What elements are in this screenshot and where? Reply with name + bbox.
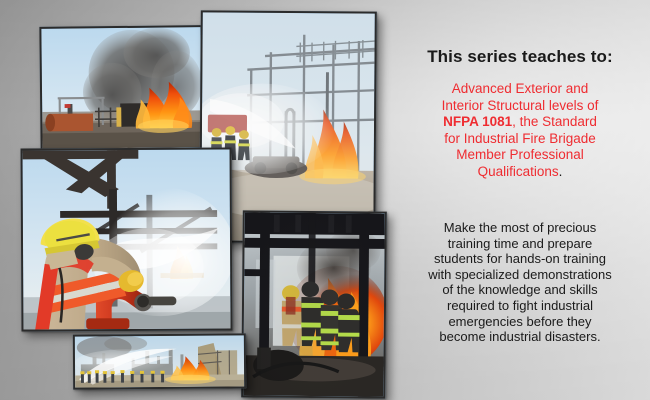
firefighter-monitor-nozzle-art <box>23 149 231 329</box>
body-line-2: training time and prepare <box>406 236 634 252</box>
body-line-5: of the knowledge and skills <box>406 282 634 298</box>
highlight-line-6-period: . <box>559 164 563 179</box>
photo-tank-farm-fire[interactable] <box>39 25 203 151</box>
body-line-8: become industrial disasters. <box>406 329 634 345</box>
photo-interior-crew-flames[interactable] <box>241 210 387 398</box>
panel-body-text: Make the most of precious training time … <box>404 220 636 345</box>
highlight-line-5: Member Professional <box>404 147 636 164</box>
refinery-master-stream-art <box>75 335 244 387</box>
text-panel: This series teaches to: Advanced Exterio… <box>390 0 650 400</box>
page-title: This series teaches to: <box>404 46 636 67</box>
highlight-line-4: for Industrial Fire Brigade <box>404 131 636 148</box>
interior-crew-flames-art <box>243 212 385 396</box>
nfpa-standard-number: NFPA 1081 <box>443 114 512 129</box>
highlight-line-6: Qualifications. <box>404 164 636 181</box>
body-line-3: students for hands-on training <box>406 251 634 267</box>
tank-farm-fire-art <box>41 27 201 149</box>
body-line-4: with specialized demonstrations <box>406 267 634 283</box>
photo-firefighter-monitor-nozzle[interactable] <box>21 147 233 331</box>
highlight-line-1: Advanced Exterior and <box>404 81 636 98</box>
body-line-7: emergencies before they <box>406 314 634 330</box>
photo-refinery-master-stream[interactable] <box>73 333 246 389</box>
highlight-line-2: Interior Structural levels of <box>404 98 636 115</box>
nfpa-highlight-text: Advanced Exterior and Interior Structura… <box>404 81 636 180</box>
highlight-line-3: NFPA 1081, the Standard <box>404 114 636 131</box>
body-line-1: Make the most of precious <box>406 220 634 236</box>
highlight-line-6-text: Qualifications <box>478 164 559 179</box>
poster-canvas: This series teaches to: Advanced Exterio… <box>0 0 650 400</box>
highlight-line-3-rest: , the Standard <box>512 114 597 129</box>
body-line-6: required to fight industrial <box>406 298 634 314</box>
